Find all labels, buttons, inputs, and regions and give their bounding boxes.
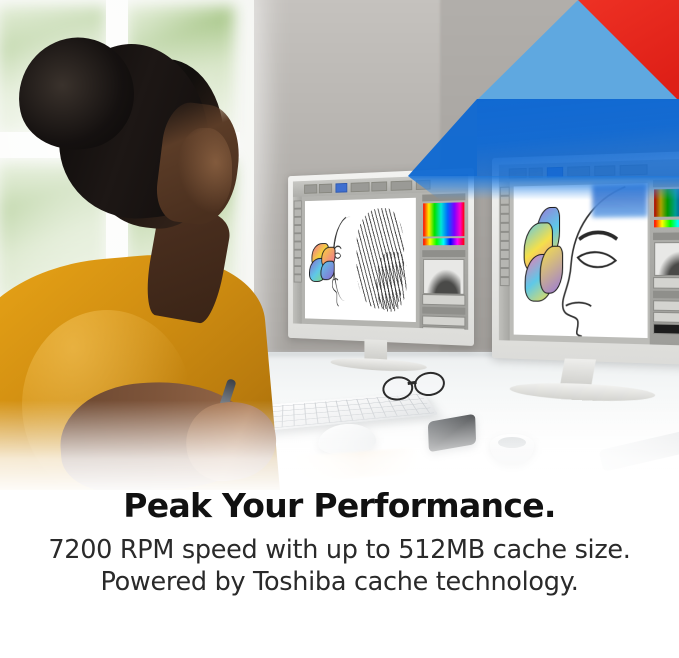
photo-white-fade <box>0 400 679 490</box>
app-side-panels <box>650 176 679 346</box>
brand-geometric-overlay <box>0 0 679 200</box>
butterfly-artwork <box>524 206 576 306</box>
app-tool-palette <box>499 182 510 341</box>
artwork-canvas <box>305 198 416 322</box>
page-title: Peak Your Performance. <box>28 486 651 526</box>
blue-band-wedge <box>408 99 477 176</box>
copy-block: Peak Your Performance. 7200 RPM speed wi… <box>0 486 679 598</box>
sketch-ponytail <box>377 252 407 311</box>
blue-band <box>477 99 679 176</box>
subheadline: 7200 RPM speed with up to 512MB cache si… <box>28 534 651 598</box>
artwork-canvas <box>514 183 648 338</box>
butterfly-artwork <box>309 243 337 284</box>
product-feature-banner: Peak Your Performance. 7200 RPM speed wi… <box>0 0 679 658</box>
blue-band-fade <box>408 176 679 200</box>
app-side-panels <box>419 191 468 330</box>
